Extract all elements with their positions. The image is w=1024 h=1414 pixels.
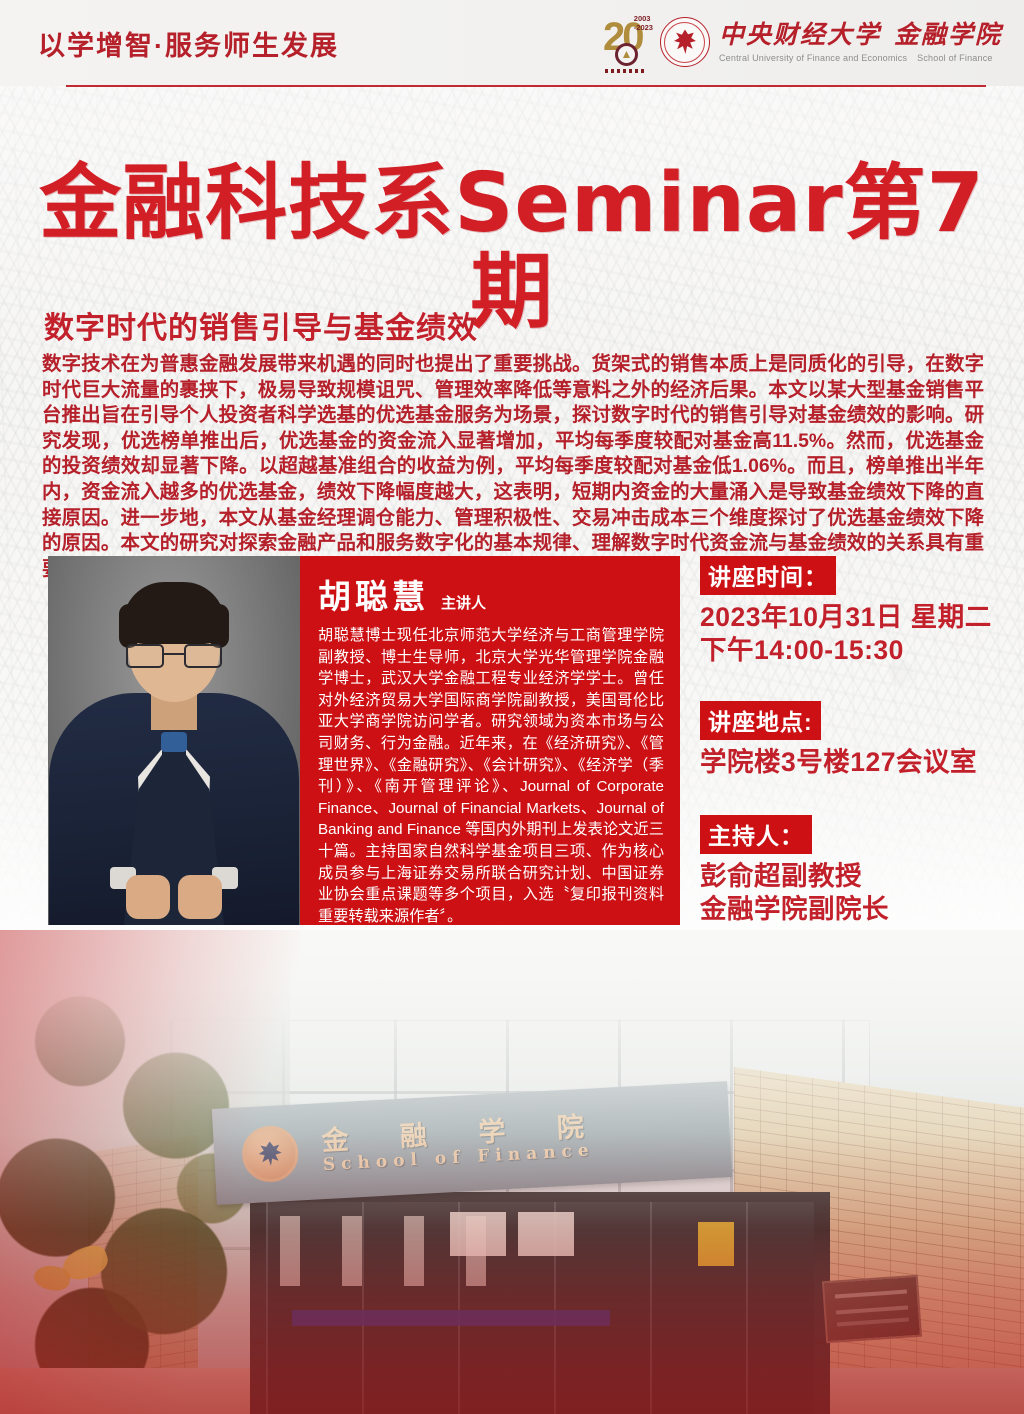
portrait-hands [126,867,222,919]
school-name-en: School of Finance [917,53,992,63]
lecture-place-value: 学院楼3号楼127会议室 [700,746,1010,779]
info-group-host: 主持人： 彭俞超副教授 金融学院副院长 [700,815,1010,926]
glasses-lens-left [126,644,164,668]
header-logo-group: 20 2003-2023 中央财经大学金融学院 Central Universi… [603,14,1002,70]
info-group-place: 讲座地点: 学院楼3号楼127会议室 [700,701,1010,779]
poster-canvas: 以学增智·服务师生发展 20 2003-2023 中央财经大学金融学院 Cent… [0,0,1024,1414]
speaker-name-row: 胡聪慧 主讲人 [318,570,664,618]
lecture-time-label: 讲座时间： [700,556,836,595]
anniversary-20-icon: 20 2003-2023 [603,14,651,70]
glasses-lens-right [184,644,222,668]
lecture-place-label: 讲座地点: [700,701,821,740]
event-info-panel: 讲座时间： 2023年10月31日 星期二 下午14:00-15:30 讲座地点… [700,556,1010,936]
lecture-time-value-line1: 2023年10月31日 星期二 [700,601,1010,634]
header-divider-rule [66,85,986,87]
university-name-block: 中央财经大学金融学院 Central University of Finance… [719,21,1002,63]
portrait-fist-left [126,875,170,919]
seal-emblem-icon [672,29,698,55]
anniversary-years: 2003-2023 [634,15,653,32]
portrait-fist-right [178,875,222,919]
info-group-time: 讲座时间： 2023年10月31日 星期二 下午14:00-15:30 [700,556,1010,667]
speaker-role-label: 主讲人 [441,592,486,613]
speaker-bio-text: 胡聪慧博士现任北京师范大学经济与工商管理学院副教授、博士生导师，北京大学光华管理… [318,625,664,927]
talk-subtitle: 数字时代的销售引导与基金绩效 [44,303,478,347]
anniversary-ring-icon [615,43,638,66]
university-seal-icon [660,17,710,67]
talk-abstract: 数字技术在为普惠金融发展带来机遇的同时也提出了重要挑战。货架式的销售本质上是同质… [42,352,984,582]
lecture-time-value-line2: 下午14:00-15:30 [700,634,1010,667]
poster-header: 以学增智·服务师生发展 20 2003-2023 中央财经大学金融学院 Cent… [0,0,1024,86]
portrait-hair [123,582,225,644]
photo-red-overlay-left [0,930,300,1414]
anniversary-bar-icon [605,69,647,73]
school-name-cn: 金融学院 [894,20,1002,49]
speaker-portrait [48,556,300,925]
host-value-line1: 彭俞超副教授 [700,860,1010,893]
speaker-bio-panel: 胡聪慧 主讲人 胡聪慧博士现任北京师范大学经济与工商管理学院副教授、博士生导师，… [300,556,680,925]
university-name-cn: 中央财经大学 [719,20,881,49]
host-label: 主持人： [700,815,812,854]
header-slogan: 以学增智·服务师生发展 [38,24,339,63]
speaker-name: 胡聪慧 [318,570,429,618]
university-name-en: Central University of Finance and Econom… [719,53,907,63]
glasses-bridge [164,653,184,655]
university-name-en-row: Central University of Finance and Econom… [719,53,1002,63]
glasses-icon [126,644,222,668]
portrait-tie-knot [161,732,187,752]
university-name-cn-row: 中央财经大学金融学院 [719,21,1002,49]
host-value-line2: 金融学院副院长 [700,893,1010,926]
